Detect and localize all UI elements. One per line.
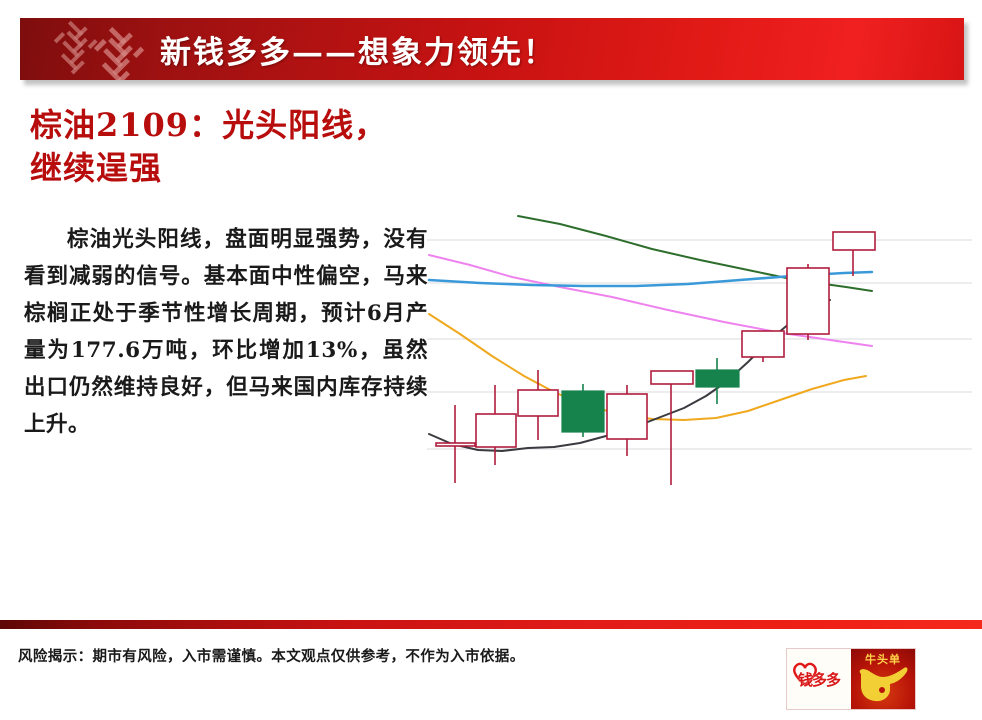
- brand-logo: 钱多多 牛头单: [786, 648, 916, 710]
- logo-qianduoduo: 钱多多: [787, 649, 851, 709]
- candle-4: [607, 385, 647, 456]
- candle-0: [436, 405, 475, 483]
- candle-2: [518, 370, 558, 440]
- body-paragraph: 棕油光头阳线，盘面明显强势，没有看到减弱的信号。基本面中性偏空，马来棕榈正处于季…: [24, 222, 428, 444]
- header-bar: 新钱多多——想象力领先！: [20, 18, 964, 80]
- candle-1: [476, 385, 516, 465]
- page-title: 棕油2109：光头阳线， 继续逞强: [30, 104, 430, 190]
- footer-divider: [0, 620, 982, 629]
- page-title-line2: 继续逞强: [30, 147, 430, 190]
- header-banner: 新钱多多——想象力领先！: [20, 18, 964, 80]
- candlestick-chart-svg: [412, 196, 972, 496]
- candlestick-chart: [412, 196, 972, 496]
- logo-qianduoduo-text: 钱多多: [798, 669, 840, 690]
- chart-candles: [436, 232, 875, 485]
- candle-7: [742, 331, 784, 362]
- slide-root: 新钱多多——想象力领先！ 棕油2109：光头阳线， 继续逞强 棕油光头阳线，盘面…: [0, 0, 982, 720]
- header-title: 新钱多多——想象力领先！: [20, 18, 964, 80]
- page-title-line1: 棕油2109：光头阳线，: [30, 104, 430, 147]
- logo-niutoudan: 牛头单: [851, 649, 915, 709]
- candle-8: [787, 264, 829, 340]
- candle-9: [833, 232, 875, 276]
- footer-disclaimer: 风险揭示：期市有风险，入市需谨慎。本文观点仅供参考，不作为入市依据。: [18, 645, 718, 666]
- candle-3: [562, 384, 604, 437]
- bull-head-icon: [857, 665, 909, 703]
- candle-5: [651, 371, 693, 485]
